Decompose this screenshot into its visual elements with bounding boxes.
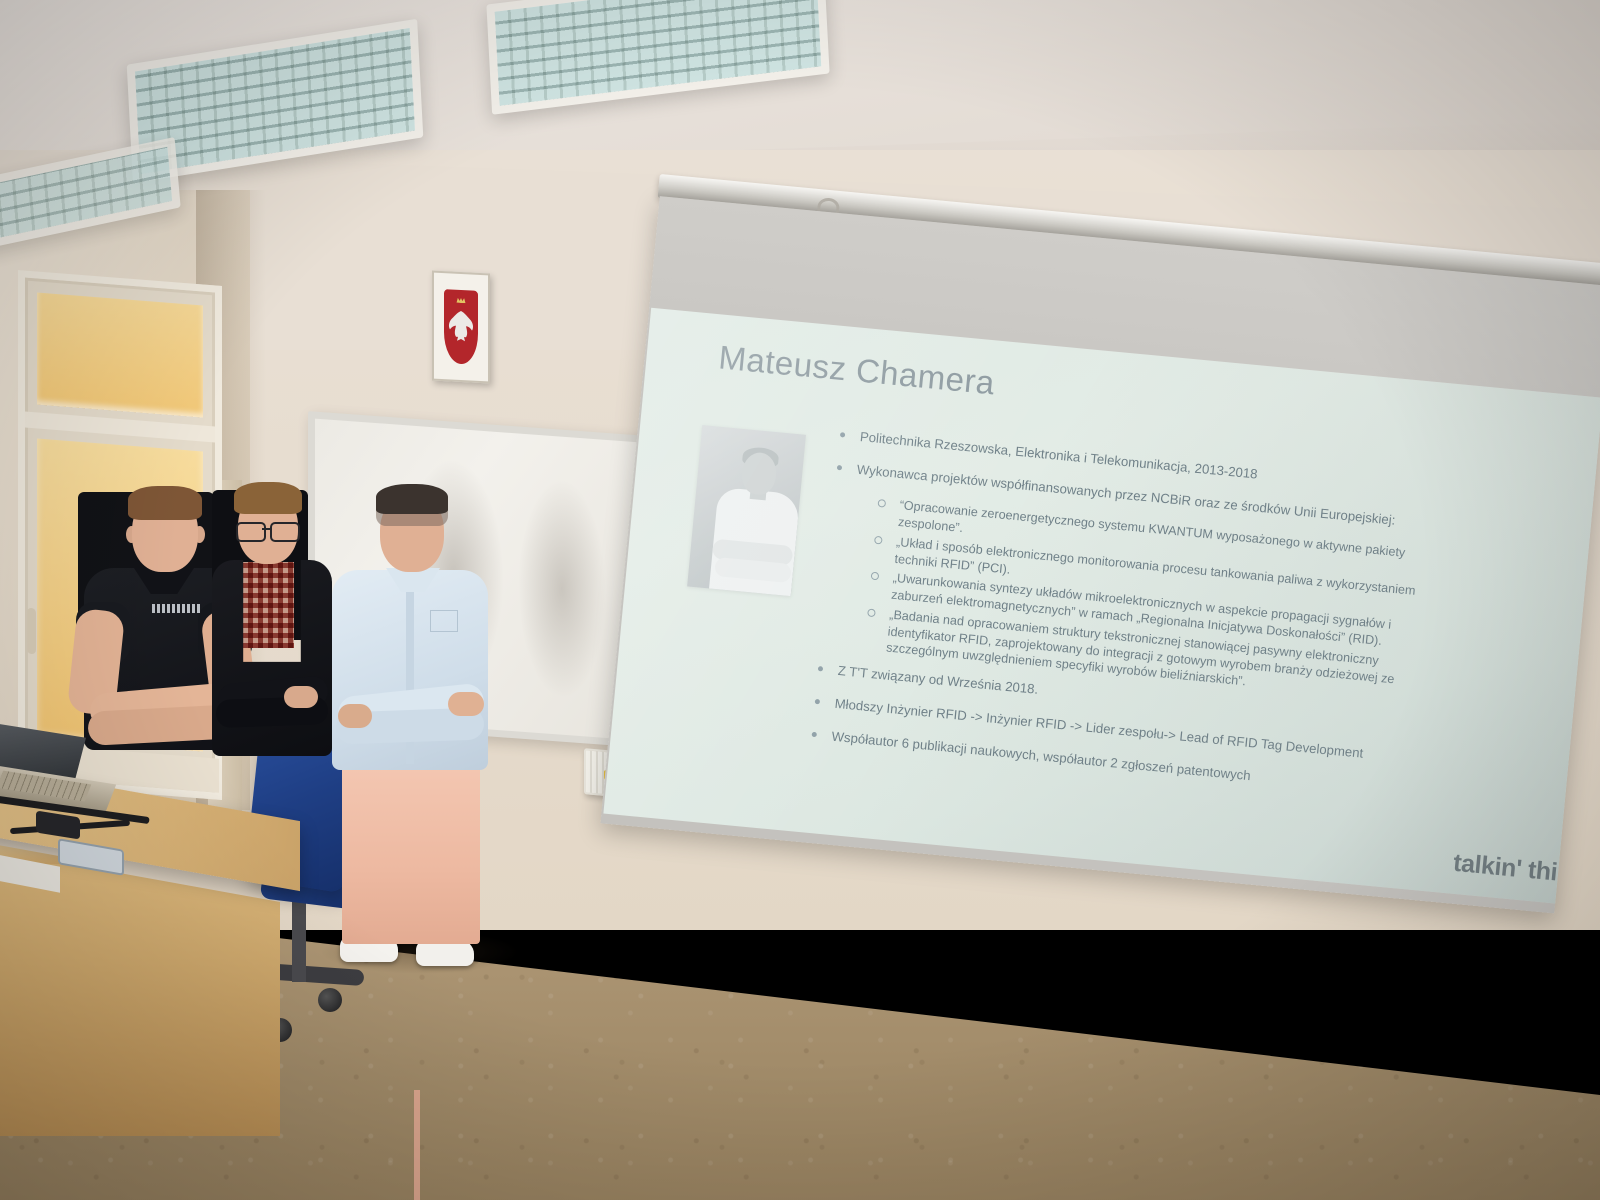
slide-portrait-photo — [687, 425, 806, 596]
person-right-hand — [338, 704, 372, 728]
lens-right — [270, 522, 300, 542]
person-left-hair — [128, 486, 202, 520]
shirt-pocket — [430, 610, 458, 632]
person-right-hand — [448, 692, 484, 716]
person-middle-hand — [284, 686, 318, 708]
projector-screen: Mateusz Chamera Politechnika Rzeszowska,… — [576, 150, 1600, 920]
window-upper-pane-blind — [37, 292, 203, 417]
lens-left — [236, 522, 266, 542]
person-right-trousers — [342, 760, 480, 944]
emblem-shield — [444, 289, 478, 365]
projected-slide: Mateusz Chamera Politechnika Rzeszowska,… — [603, 308, 1600, 904]
projector-screen-canvas: Mateusz Chamera Politechnika Rzeszowska,… — [600, 196, 1600, 913]
company-logo: talkin' thin — [1452, 849, 1573, 889]
person-right-hair — [376, 484, 448, 514]
eyeglasses-icon — [236, 522, 300, 538]
slide-title: Mateusz Chamera — [717, 338, 996, 402]
person-middle-hair — [234, 482, 302, 514]
person-middle — [212, 490, 332, 850]
chair-caster — [318, 988, 342, 1012]
chair-post — [292, 898, 306, 982]
slide-body: Politechnika Rzeszowska, Elektronika i T… — [806, 426, 1584, 828]
trouser-seam — [414, 1090, 420, 1200]
window-handle[interactable] — [27, 608, 36, 655]
polo-shirt-logo — [152, 604, 200, 613]
white-eagle-icon — [448, 305, 474, 346]
person-middle-checked-shirt — [238, 562, 294, 648]
classroom-presentation-photo: Mateusz Chamera Politechnika Rzeszowska,… — [0, 0, 1600, 1200]
person-right — [332, 492, 488, 962]
emblem-crown — [457, 298, 466, 303]
polish-coat-of-arms-icon — [432, 270, 490, 383]
